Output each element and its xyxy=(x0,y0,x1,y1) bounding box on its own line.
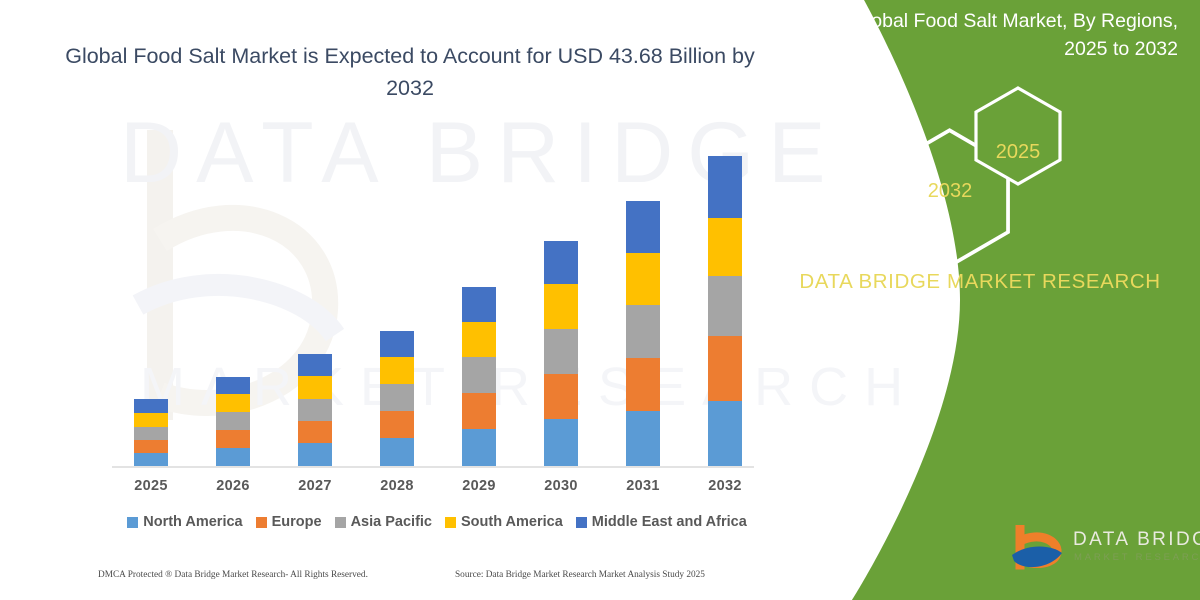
bar-segment xyxy=(380,411,414,438)
x-label-2028: 2028 xyxy=(362,478,432,494)
bar-segment xyxy=(544,284,578,329)
legend-swatch-icon xyxy=(127,517,138,528)
bar-segment xyxy=(626,411,660,466)
bar-segment xyxy=(380,384,414,411)
legend-label: North America xyxy=(143,514,242,530)
legend-item-north-america[interactable]: North America xyxy=(127,514,242,530)
legend-swatch-icon xyxy=(445,517,456,528)
bar-segment xyxy=(462,393,496,429)
legend-swatch-icon xyxy=(256,517,267,528)
legend-label: Asia Pacific xyxy=(351,514,432,530)
bar-segment xyxy=(462,287,496,322)
bar-segment xyxy=(626,201,660,253)
panel-title: Global Food Salt Market, By Regions, 202… xyxy=(806,8,1178,63)
bar-segment xyxy=(462,322,496,357)
legend-swatch-icon xyxy=(335,517,346,528)
bar-segment xyxy=(380,357,414,384)
legend-item-asia-pacific[interactable]: Asia Pacific xyxy=(335,514,432,530)
infographic-canvas: DATA BRIDGE MARKET RESEARCH Global Food … xyxy=(0,0,1200,600)
bar-segment xyxy=(626,253,660,305)
x-axis-line xyxy=(112,466,754,468)
legend-label: Middle East and Africa xyxy=(592,514,747,530)
bar-2032 xyxy=(708,156,742,466)
x-label-2026: 2026 xyxy=(198,478,268,494)
bar-2028 xyxy=(380,331,414,466)
green-panel-shape xyxy=(760,0,1200,600)
bar-segment xyxy=(544,329,578,374)
x-label-2032: 2032 xyxy=(690,478,760,494)
brand-name: DATA BRIDGE MARKET RESEARCH xyxy=(760,267,1200,297)
bar-segment xyxy=(298,421,332,443)
bar-2031 xyxy=(626,201,660,466)
bar-segment xyxy=(544,374,578,419)
bar-segment xyxy=(134,413,168,427)
chart-legend: North AmericaEuropeAsia PacificSouth Ame… xyxy=(112,514,762,530)
bar-segment xyxy=(134,427,168,440)
bar-segment xyxy=(626,305,660,358)
bar-segment xyxy=(216,412,250,430)
bar-segment xyxy=(544,419,578,466)
chart-plot-area xyxy=(112,140,752,466)
bar-segment xyxy=(462,357,496,393)
footer-source: Source: Data Bridge Market Research Mark… xyxy=(455,570,705,580)
bar-segment xyxy=(298,354,332,376)
bar-segment xyxy=(134,453,168,466)
bar-2025 xyxy=(134,399,168,466)
dbmr-logo-icon xyxy=(1010,525,1068,575)
dbmr-logo: DATA BRIDGE MARKET RESEARCH xyxy=(1010,525,1190,577)
bar-segment xyxy=(708,276,742,336)
bar-segment xyxy=(134,399,168,413)
bar-segment xyxy=(626,358,660,411)
legend-swatch-icon xyxy=(576,517,587,528)
bar-2027 xyxy=(298,354,332,466)
x-label-2025: 2025 xyxy=(116,478,186,494)
bar-segment xyxy=(216,394,250,412)
bar-segment xyxy=(380,438,414,466)
bar-2029 xyxy=(462,287,496,466)
bar-segment xyxy=(216,430,250,448)
right-brand-panel: Global Food Salt Market, By Regions, 202… xyxy=(760,0,1200,600)
legend-item-middle-east-and-africa[interactable]: Middle East and Africa xyxy=(576,514,747,530)
bar-segment xyxy=(544,241,578,284)
bar-segment xyxy=(380,331,414,357)
bar-segment xyxy=(216,448,250,466)
bar-segment xyxy=(462,429,496,466)
footer-copyright: DMCA Protected ® Data Bridge Market Rese… xyxy=(98,570,368,580)
x-label-2030: 2030 xyxy=(526,478,596,494)
bar-2026 xyxy=(216,377,250,466)
bar-segment xyxy=(216,377,250,394)
bar-segment xyxy=(708,218,742,276)
legend-label: South America xyxy=(461,514,563,530)
legend-item-europe[interactable]: Europe xyxy=(256,514,322,530)
bar-segment xyxy=(298,399,332,421)
bar-segment xyxy=(708,336,742,401)
legend-label: Europe xyxy=(272,514,322,530)
bar-segment xyxy=(298,376,332,399)
bar-2030 xyxy=(544,241,578,466)
bar-segment xyxy=(298,443,332,466)
bar-segment xyxy=(708,156,742,218)
x-label-2031: 2031 xyxy=(608,478,678,494)
stacked-bar-chart: 20252026202720282029203020312032 North A… xyxy=(0,0,790,600)
bar-segment xyxy=(708,401,742,466)
dbmr-logo-title: DATA BRIDGE xyxy=(1073,529,1200,551)
x-label-2027: 2027 xyxy=(280,478,350,494)
bar-segment xyxy=(134,440,168,453)
legend-item-south-america[interactable]: South America xyxy=(445,514,563,530)
dbmr-logo-subtitle: MARKET RESEARCH xyxy=(1074,552,1200,563)
x-label-2029: 2029 xyxy=(444,478,514,494)
